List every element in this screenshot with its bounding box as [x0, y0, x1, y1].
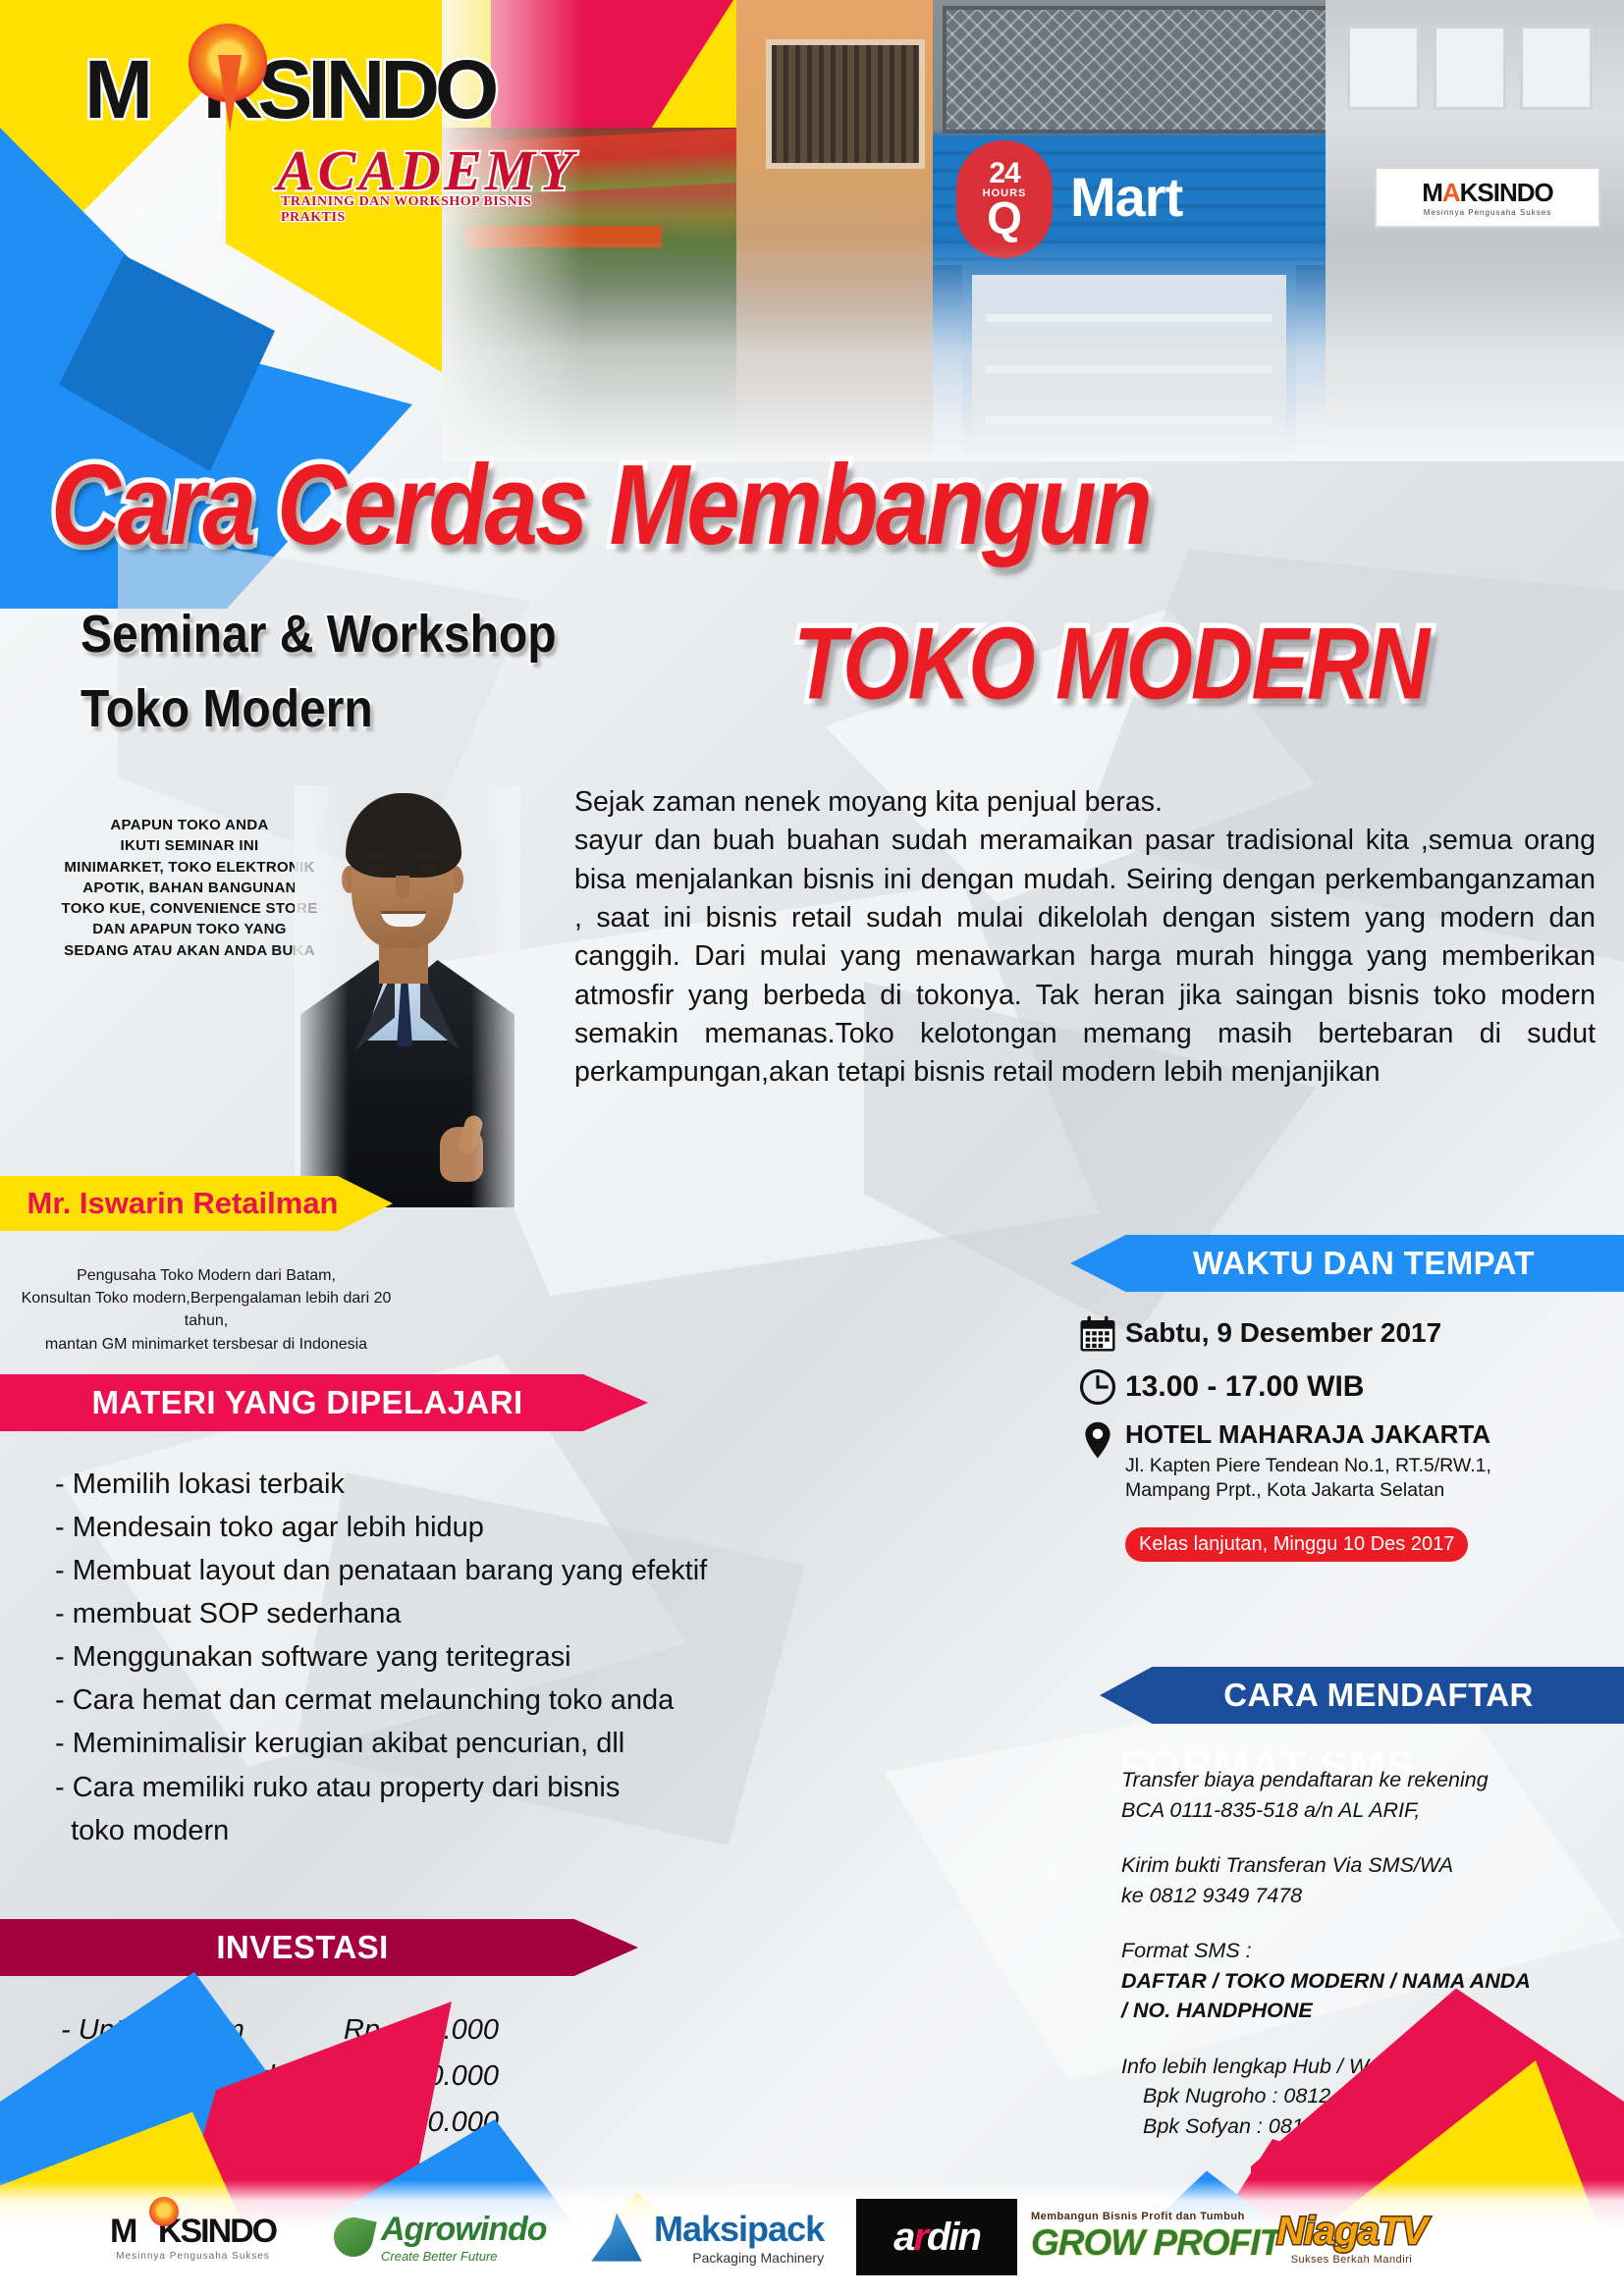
partner-logos: MAKSINDO Mesinnya Pengusaha Sukses Agrow… — [0, 2186, 1624, 2288]
map-pin-icon — [1070, 1419, 1125, 1461]
footer-niaga-name: NiagaTV — [1276, 2210, 1427, 2254]
footer-logo-niaga-tv: NiagaTV Sukses Berkah Mandiri — [1276, 2210, 1427, 2266]
format-sms-label: Format SMS : — [1121, 1936, 1612, 1966]
list-item: - Menggunakan software yang teritegrasi — [55, 1635, 978, 1679]
intro-paragraph-line1: Sejak zaman nenek moyang kita penjual be… — [574, 783, 1596, 822]
waktu-header-label: WAKTU DAN TEMPAT — [1193, 1245, 1535, 1282]
speaker-credentials: Pengusaha Toko Modern dari Batam, Konsul… — [10, 1264, 403, 1356]
spacer — [1121, 1910, 1612, 1936]
venue-row: HOTEL MAHARAJA JAKARTA Jl. Kapten Piere … — [1070, 1419, 1624, 1504]
list-item: - Mendesain toko agar lebih hidup — [55, 1506, 978, 1549]
footer-grow-name: GROW PROFIT — [1031, 2222, 1280, 2264]
footer-grow-tagline: Membangun Bisnis Profit dan Tumbuh — [1031, 2211, 1245, 2222]
footer-maksindo-wordmark: MAKSINDO — [110, 2213, 276, 2251]
list-item: - Cara hemat dan cermat melaunching toko… — [55, 1679, 978, 1722]
mendaftar-section-header: CARA MENDAFTAR — [1100, 1667, 1624, 1724]
footer-logo-maksipack: Maksipack Packaging Machinery — [589, 2209, 824, 2266]
transfer-line1: Transfer biaya pendaftaran ke rekening — [1121, 1765, 1612, 1795]
materi-header-label: MATERI YANG DIPELAJARI — [91, 1384, 522, 1421]
calendar-icon — [1070, 1313, 1125, 1355]
footer-logo-agrowindo: Agrowindo Create Better Future — [334, 2211, 547, 2264]
logo-academy-text: ACADEMY — [277, 137, 576, 203]
portrait-fade-overlay — [295, 785, 520, 1207]
event-time: 13.00 - 17.00 WIB — [1125, 1366, 1364, 1404]
speaker-name: Mr. Iswarin Retailman — [27, 1186, 339, 1221]
materi-section-header: MATERI YANG DIPELAJARI — [0, 1374, 648, 1431]
waktu-section-header: WAKTU DAN TEMPAT — [1070, 1235, 1624, 1292]
venue-address-line1: Jl. Kapten Piere Tendean No.1, RT.5/RW.1… — [1125, 1454, 1491, 1478]
page-subtitle: TOKO MODERN — [793, 605, 1428, 722]
triangle-icon — [589, 2210, 644, 2265]
spacer — [1121, 1825, 1612, 1850]
seminar-label-line1: Seminar & Workshop — [81, 605, 557, 666]
list-item: - membuat SOP sederhana — [55, 1592, 978, 1635]
storefront-photo: 24 HOURS Q Mart MAKSINDO Mesinnya Pengus… — [442, 0, 1624, 461]
investasi-section-header: INVESTASI — [0, 1919, 638, 1976]
logo-tagline: TRAINING DAN WORKSHOP BISNIS PRAKTIS — [281, 194, 536, 226]
time-row: 13.00 - 17.00 WIB — [1070, 1366, 1624, 1408]
footer-logo-ardin: ardin — [856, 2199, 1017, 2275]
footer-maksipack-tagline: Packaging Machinery — [692, 2250, 824, 2266]
footer-niaga-tagline: Sukses Berkah Mandiri — [1291, 2254, 1413, 2266]
page-title: Cara Cerdas Membangun — [51, 440, 1583, 570]
list-item: - Memilih lokasi terbaik — [55, 1463, 978, 1506]
venue-name: HOTEL MAHARAJA JAKARTA — [1125, 1419, 1490, 1449]
list-item: - Membuat layout dan penataan barang yan… — [55, 1549, 978, 1592]
speaker-credential-line: mantan GM minimarket tersbesar di Indone… — [10, 1333, 403, 1356]
footer-logo-grow-profit: Membangun Bisnis Profit dan Tumbuh GROW … — [1031, 2211, 1280, 2264]
investasi-header-label: INVESTASI — [216, 1929, 388, 1966]
speaker-portrait — [295, 785, 520, 1207]
event-date: Sabtu, 9 Desember 2017 — [1125, 1313, 1441, 1349]
footer-maksipack-name: Maksipack — [654, 2209, 824, 2250]
seminar-label-line2: Toko Modern — [81, 679, 373, 740]
kirim-line1: Kirim bukti Transferan Via SMS/WA — [1121, 1850, 1612, 1881]
intro-paragraph: Sejak zaman nenek moyang kita penjual be… — [574, 783, 1596, 1093]
list-item: toko modern — [55, 1809, 978, 1852]
footer-maksindo-tagline: Mesinnya Pengusaha Sukses — [116, 2251, 270, 2262]
photo-fade-overlay — [442, 0, 1624, 461]
speaker-credential-line: Konsultan Toko modern,Berpengalaman lebi… — [10, 1287, 403, 1332]
footer-agrowindo-tagline: Create Better Future — [381, 2249, 547, 2264]
list-item: - Meminimalisir kerugian akibat pencuria… — [55, 1722, 978, 1765]
kirim-line2: ke 0812 9349 7478 — [1121, 1881, 1612, 1911]
status-badge: Kelas lanjutan, Minggu 10 Des 2017 — [1125, 1527, 1468, 1562]
footer-ardin-name: ardin — [893, 2216, 980, 2260]
date-row: Sabtu, 9 Desember 2017 — [1070, 1313, 1624, 1355]
clock-icon — [1070, 1366, 1125, 1408]
list-item: - Cara memiliki ruko atau property dari … — [55, 1766, 978, 1809]
footer-agrowindo-name: Agrowindo — [381, 2211, 547, 2249]
waktu-details: Sabtu, 9 Desember 2017 13.00 - 17.00 WIB… — [1070, 1313, 1624, 1562]
logo-wordmark: MAKSINDO — [84, 51, 536, 130]
poster-root: 24 HOURS Q Mart MAKSINDO Mesinnya Pengus… — [0, 0, 1624, 2296]
materi-list: - Memilih lokasi terbaik - Mendesain tok… — [55, 1463, 978, 1852]
footer-logo-maksindo: MAKSINDO Mesinnya Pengusaha Sukses — [110, 2213, 276, 2262]
transfer-line2: BCA 0111-835-518 a/n AL ARIF, — [1121, 1795, 1612, 1826]
speaker-credential-line: Pengusaha Toko Modern dari Batam, — [10, 1264, 403, 1287]
leaf-icon — [330, 2214, 376, 2260]
intro-paragraph-body: sayur dan buah buahan sudah meramaikan p… — [574, 822, 1596, 1092]
mendaftar-header-label: CARA MENDAFTAR — [1223, 1677, 1533, 1714]
speaker-name-banner: Mr. Iswarin Retailman — [0, 1176, 393, 1231]
venue-address-line2: Mampang Prpt., Kota Jakarta Selatan — [1125, 1478, 1491, 1503]
maksindo-academy-logo: MAKSINDO ACADEMY TRAINING DAN WORKSHOP B… — [84, 51, 536, 188]
